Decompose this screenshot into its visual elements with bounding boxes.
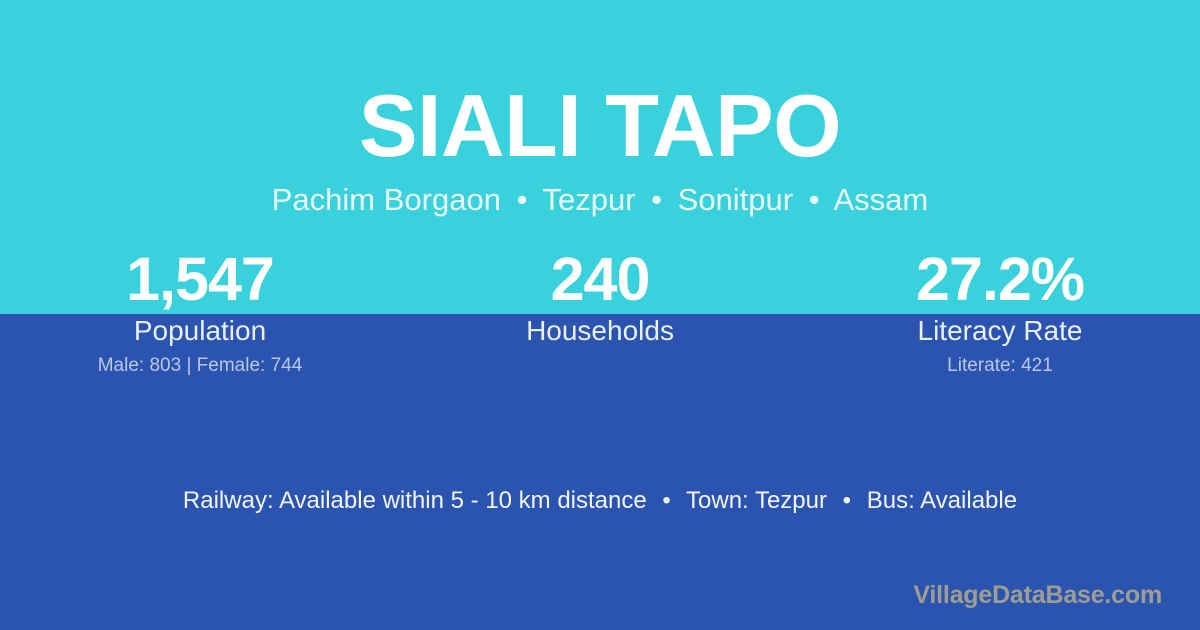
facility-town: Town: Tezpur: [686, 487, 827, 514]
facilities-summary: Railway: Available within 5 - 10 km dist…: [0, 486, 1200, 516]
breadcrumb-item-panchayat: Pachim Borgaon: [272, 182, 501, 217]
facility-bus: Bus: Available: [867, 487, 1017, 514]
stat-label-literacy-rate: Literacy Rate: [800, 314, 1200, 348]
facility-separator-icon: •: [653, 487, 679, 514]
stat-block-population: 1,547 Population Male: 803 | Female: 744: [0, 246, 400, 386]
stat-value-literacy-rate: 27.2%: [800, 246, 1200, 312]
stat-sub-population: Male: 803 | Female: 744: [0, 354, 400, 378]
stat-value-households: 240: [400, 246, 800, 312]
site-watermark: VillageDataBase.com: [913, 580, 1162, 610]
stats-row: 1,547 Population Male: 803 | Female: 744…: [0, 246, 1200, 386]
breadcrumb-item-district: Sonitpur: [678, 182, 793, 217]
village-info-card: SIALI TAPO Pachim Borgaon • Tezpur • Son…: [0, 0, 1200, 630]
stat-block-literacy-rate: 27.2% Literacy Rate Literate: 421: [800, 246, 1200, 386]
breadcrumb: Pachim Borgaon • Tezpur • Sonitpur • Ass…: [0, 180, 1200, 220]
page-title: SIALI TAPO: [0, 78, 1200, 174]
stat-sub-literacy-rate: Literate: 421: [800, 354, 1200, 378]
breadcrumb-separator-icon: •: [802, 182, 827, 217]
stat-label-households: Households: [400, 314, 800, 348]
stat-value-population: 1,547: [0, 246, 400, 312]
breadcrumb-item-state: Assam: [834, 182, 929, 217]
breadcrumb-separator-icon: •: [644, 182, 669, 217]
stat-sub-households: [400, 354, 800, 378]
breadcrumb-separator-icon: •: [510, 182, 535, 217]
stat-block-households: 240 Households: [400, 246, 800, 386]
breadcrumb-item-block: Tezpur: [542, 182, 635, 217]
facility-railway: Railway: Available within 5 - 10 km dist…: [183, 487, 647, 514]
stat-label-population: Population: [0, 314, 400, 348]
facility-separator-icon: •: [834, 487, 860, 514]
